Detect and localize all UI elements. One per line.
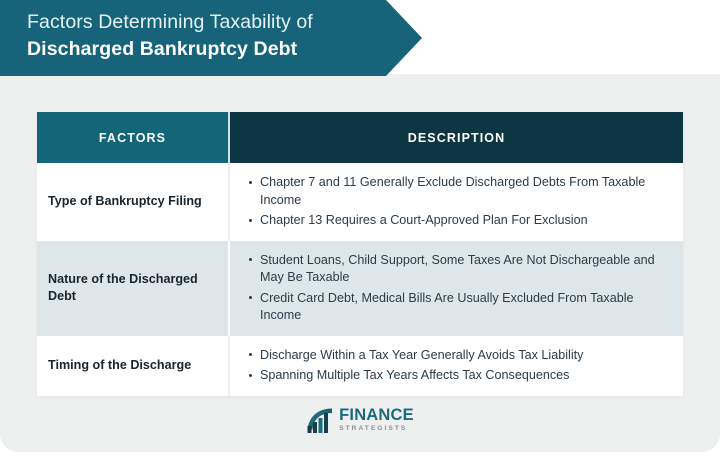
list-item-label: Credit Card Debt, Medical Bills Are Usua… (260, 291, 634, 323)
description-cell: Chapter 7 and 11 Generally Exclude Disch… (229, 163, 683, 241)
bullet-dot-icon (249, 296, 252, 299)
table-head: FACTORS DESCRIPTION (37, 112, 683, 163)
finance-strategists-bar-chart-icon (306, 405, 336, 435)
bullet-dot-icon (249, 258, 252, 261)
description-cell: Student Loans, Child Support, Some Taxes… (229, 241, 683, 336)
list-item-label: Student Loans, Child Support, Some Taxes… (260, 253, 655, 285)
bullet-dot-icon (249, 219, 252, 222)
bullet-list: Student Loans, Child Support, Some Taxes… (230, 252, 669, 325)
factor-cell: Type of Bankruptcy Filing (37, 163, 229, 241)
bullet-dot-icon (249, 181, 252, 184)
infographic-root: Factors Determining Taxability of Discha… (0, 0, 720, 469)
list-item: Spanning Multiple Tax Years Affects Tax … (260, 367, 669, 385)
factors-table: FACTORS DESCRIPTION Type of Bankruptcy F… (37, 112, 683, 396)
bullet-list: Discharge Within a Tax Year Generally Av… (230, 347, 669, 385)
list-item-label: Chapter 7 and 11 Generally Exclude Disch… (260, 175, 645, 207)
bullet-list: Chapter 7 and 11 Generally Exclude Disch… (230, 174, 669, 230)
table-header-row: FACTORS DESCRIPTION (37, 112, 683, 163)
list-item: Chapter 13 Requires a Court-Approved Pla… (260, 212, 669, 230)
bullet-dot-icon (249, 374, 252, 377)
list-item: Discharge Within a Tax Year Generally Av… (260, 347, 669, 365)
column-header-factors: FACTORS (37, 112, 229, 163)
logo-tagline: STRATEGISTS (339, 424, 414, 433)
description-cell: Discharge Within a Tax Year Generally Av… (229, 336, 683, 396)
list-item-label: Chapter 13 Requires a Court-Approved Pla… (260, 213, 588, 227)
header-banner-text: Factors Determining Taxability of Discha… (27, 9, 387, 63)
logo-group: FINANCE STRATEGISTS (306, 405, 414, 435)
logo-name: FINANCE (339, 407, 414, 423)
list-item-label: Spanning Multiple Tax Years Affects Tax … (260, 368, 569, 382)
factor-cell: Nature of the Discharged Debt (37, 241, 229, 336)
list-item: Student Loans, Child Support, Some Taxes… (260, 252, 669, 287)
list-item: Credit Card Debt, Medical Bills Are Usua… (260, 290, 669, 325)
factor-cell: Timing of the Discharge (37, 336, 229, 396)
logo-text-group: FINANCE STRATEGISTS (339, 407, 414, 433)
list-item-label: Discharge Within a Tax Year Generally Av… (260, 348, 583, 362)
bullet-dot-icon (249, 353, 252, 356)
table-row: Timing of the Discharge Discharge Within… (37, 336, 683, 396)
header-title-line-2: Discharged Bankruptcy Debt (27, 36, 387, 63)
column-header-description: DESCRIPTION (229, 112, 683, 163)
header-title-line-1: Factors Determining Taxability of (27, 9, 387, 36)
table-row: Type of Bankruptcy Filing Chapter 7 and … (37, 163, 683, 241)
list-item: Chapter 7 and 11 Generally Exclude Disch… (260, 174, 669, 209)
brand-logo: FINANCE STRATEGISTS (0, 400, 720, 440)
table-body: Type of Bankruptcy Filing Chapter 7 and … (37, 163, 683, 396)
table-row: Nature of the Discharged Debt Student Lo… (37, 241, 683, 336)
header-banner: Factors Determining Taxability of Discha… (0, 0, 422, 76)
